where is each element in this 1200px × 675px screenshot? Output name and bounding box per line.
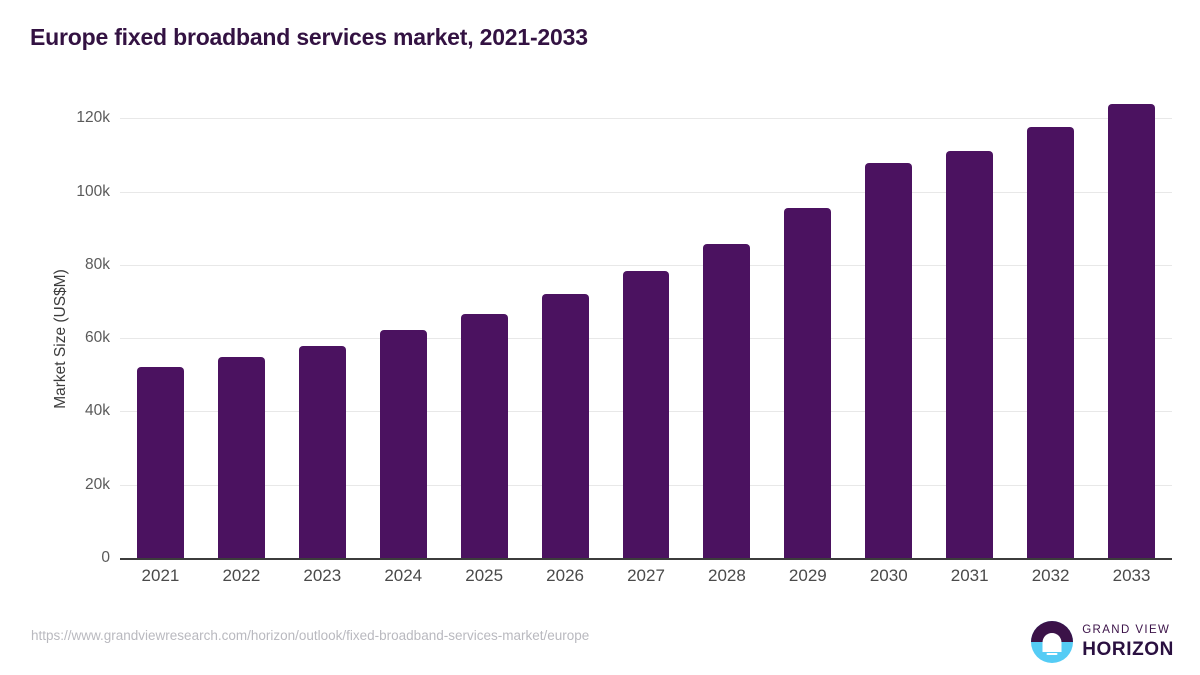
y-tick-label: 100k [0,183,110,201]
x-tick-label-2029: 2029 [767,566,848,586]
bar-2030[interactable] [865,163,912,558]
x-tick-label-2027: 2027 [606,566,687,586]
x-tick-label-2033: 2033 [1091,566,1172,586]
y-tick-label: 120k [0,109,110,127]
y-tick-label: 40k [0,402,110,420]
bar-2025[interactable] [461,314,508,558]
y-tick-label: 20k [0,476,110,494]
bar-2022[interactable] [218,357,265,558]
icon-ray-2 [1047,653,1058,656]
bar-series [120,100,1172,558]
bar-2032[interactable] [1027,127,1074,558]
bar-2023[interactable] [299,346,346,558]
x-tick-label-2022: 2022 [201,566,282,586]
x-axis-line [120,558,1172,560]
x-tick-label-2028: 2028 [686,566,767,586]
bar-2021[interactable] [137,367,184,558]
y-tick-label: 80k [0,256,110,274]
x-tick-labels-group: 2021202220232024202520262027202820292030… [120,566,1172,594]
plot-area: 020k40k60k80k100k120k [120,100,1172,558]
logo-line-horizon: HORIZON [1082,640,1174,659]
x-tick-label-2031: 2031 [929,566,1010,586]
bar-2031[interactable] [946,151,993,558]
x-tick-label-2021: 2021 [120,566,201,586]
icon-ray-1 [1044,647,1061,650]
x-tick-label-2032: 2032 [1010,566,1091,586]
bar-2026[interactable] [542,294,589,558]
horizon-sunrise-icon [1031,621,1073,663]
logo-text: GRAND VIEW HORIZON [1082,625,1174,660]
bar-2033[interactable] [1108,104,1155,558]
x-tick-label-2030: 2030 [848,566,929,586]
x-tick-label-2026: 2026 [525,566,606,586]
source-url[interactable]: https://www.grandviewresearch.com/horizo… [31,628,589,643]
bar-2029[interactable] [784,208,831,558]
x-tick-label-2024: 2024 [363,566,444,586]
x-tick-label-2025: 2025 [444,566,525,586]
logo-line-grand-view: GRAND VIEW [1082,625,1174,637]
y-tick-label: 0 [0,549,110,567]
bar-2027[interactable] [623,271,670,558]
bar-2024[interactable] [380,330,427,558]
grand-view-horizon-logo: GRAND VIEW HORIZON [1031,620,1174,664]
x-tick-label-2023: 2023 [282,566,363,586]
bar-2028[interactable] [703,244,750,558]
chart-page: Europe fixed broadband services market, … [0,0,1200,675]
y-tick-label: 60k [0,329,110,347]
chart-plot-wrapper: Market Size (US$M) 020k40k60k80k100k120k… [0,0,1200,610]
